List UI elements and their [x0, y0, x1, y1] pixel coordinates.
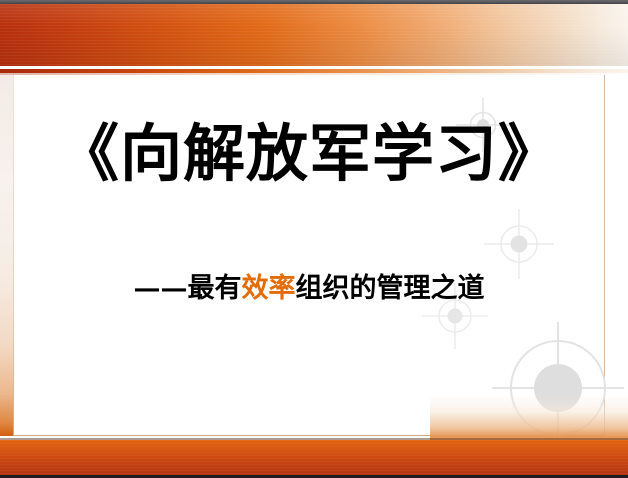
bottom-right-fade	[430, 395, 628, 441]
slide-subtitle-container: ——最有效率组织的管理之道	[13, 272, 605, 306]
header-gradient-band	[0, 4, 628, 66]
left-gradient-rail	[0, 75, 13, 436]
presentation-slide: 《向解放军学习》 ——最有效率组织的管理之道	[0, 0, 628, 478]
subtitle-accent-text: 效率	[242, 273, 296, 304]
slide-title-container: 《向解放军学习》	[13, 118, 605, 190]
subtitle-text-before: 最有	[188, 273, 242, 304]
slide-subtitle: ——最有效率组织的管理之道	[134, 272, 485, 306]
subtitle-text-after: 组织的管理之道	[296, 273, 485, 304]
subtitle-dash: ——	[134, 273, 188, 304]
slide-title: 《向解放军学习》	[57, 118, 561, 190]
bottom-gradient-band	[0, 440, 628, 475]
